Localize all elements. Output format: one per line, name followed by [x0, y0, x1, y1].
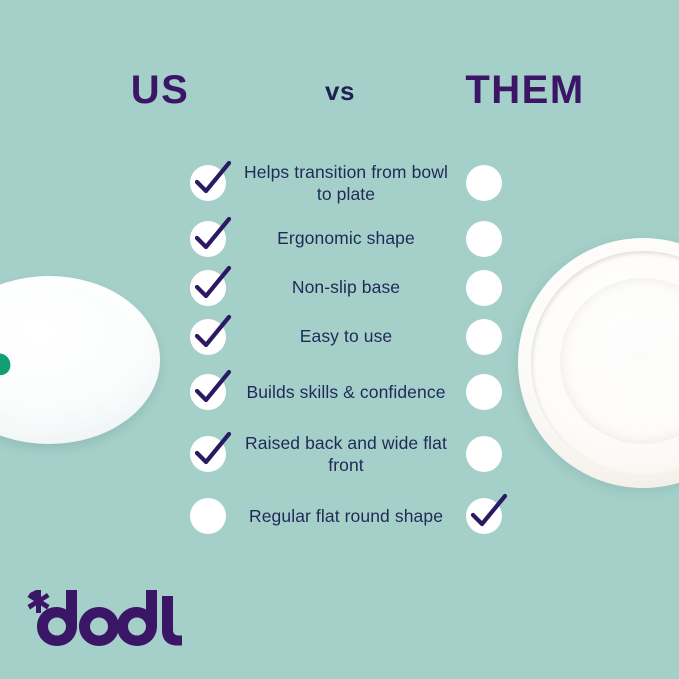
doddl-logo — [20, 586, 190, 652]
regular-plate-image — [518, 238, 679, 488]
table-row: Builds skills & confidence — [186, 361, 506, 423]
table-row: Helps transition from bowl to plate — [186, 152, 506, 214]
comparison-header: US vs THEM — [0, 62, 679, 124]
feature-label: Raised back and wide flat front — [230, 432, 462, 477]
them-empty-circle-icon — [462, 315, 506, 359]
feature-label: Builds skills & confidence — [230, 381, 462, 403]
them-empty-circle-icon — [462, 266, 506, 310]
table-row: Raised back and wide flat front — [186, 423, 506, 485]
feature-label: Easy to use — [230, 325, 462, 347]
us-check-icon — [186, 370, 230, 414]
us-check-icon — [186, 266, 230, 310]
them-empty-circle-icon — [462, 432, 506, 476]
us-check-icon — [186, 432, 230, 476]
comparison-rows: Helps transition from bowl to plate Ergo… — [186, 152, 506, 547]
us-check-icon — [186, 161, 230, 205]
table-row: Regular flat round shape — [186, 485, 506, 547]
them-empty-circle-icon — [462, 370, 506, 414]
table-row: Ergonomic shape — [186, 214, 506, 263]
feature-label: Helps transition from bowl to plate — [230, 161, 462, 206]
feature-label: Regular flat round shape — [230, 505, 462, 527]
header-us: US — [80, 62, 240, 118]
us-empty-circle-icon — [186, 494, 230, 538]
feature-label: Non-slip base — [230, 276, 462, 298]
green-splat-icon — [0, 326, 32, 418]
them-empty-circle-icon — [462, 161, 506, 205]
table-row: Easy to use — [186, 312, 506, 361]
feature-label: Ergonomic shape — [230, 227, 462, 249]
them-empty-circle-icon — [462, 217, 506, 261]
comparison-infographic: US vs THEM Helps transition from bowl to… — [0, 0, 679, 679]
doddl-plate-image — [0, 276, 160, 444]
them-check-icon — [462, 494, 506, 538]
header-them: THEM — [440, 62, 610, 118]
us-check-icon — [186, 315, 230, 359]
header-vs: vs — [288, 68, 392, 114]
us-check-icon — [186, 217, 230, 261]
table-row: Non-slip base — [186, 263, 506, 312]
